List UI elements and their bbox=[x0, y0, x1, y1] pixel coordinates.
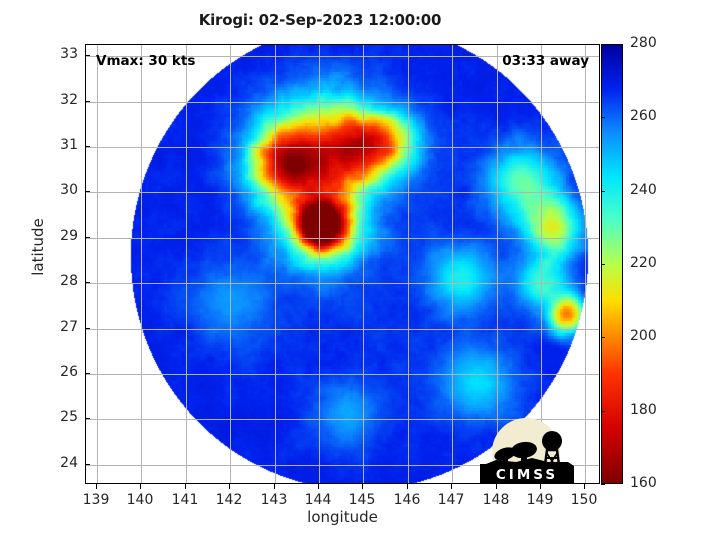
y-tick-label: 33 bbox=[38, 46, 78, 62]
y-tick-label: 24 bbox=[38, 455, 78, 471]
gridline-horizontal bbox=[86, 147, 599, 148]
gridline-vertical bbox=[141, 45, 142, 483]
colorbar-tick-mark bbox=[601, 191, 605, 192]
colorbar-gradient bbox=[602, 45, 622, 483]
gridline-horizontal bbox=[86, 102, 599, 103]
y-tick-mark bbox=[85, 282, 90, 283]
x-tick-label: 145 bbox=[340, 492, 384, 508]
x-tick-label: 140 bbox=[118, 492, 162, 508]
gridline-horizontal bbox=[86, 238, 599, 239]
gridline-vertical bbox=[275, 45, 276, 483]
time-away-annotation: 03:33 away bbox=[502, 53, 589, 69]
y-tick-mark bbox=[85, 101, 90, 102]
colorbar-tick-label: 200 bbox=[630, 328, 657, 344]
y-tick-mark bbox=[85, 55, 90, 56]
y-tick-mark bbox=[85, 418, 90, 419]
x-tick-label: 139 bbox=[74, 492, 118, 508]
y-tick-mark bbox=[85, 237, 90, 238]
page-title: Kirogi: 02-Sep-2023 12:00:00 bbox=[0, 11, 640, 29]
colorbar-tick-mark bbox=[601, 337, 605, 338]
x-tick-label: 142 bbox=[207, 492, 251, 508]
x-tick-label: 149 bbox=[518, 492, 562, 508]
vmax-annotation: Vmax: 30 kts bbox=[96, 53, 195, 69]
x-tick-mark bbox=[274, 484, 275, 489]
y-tick-label: 31 bbox=[38, 137, 78, 153]
y-tick-mark bbox=[85, 146, 90, 147]
y-tick-mark bbox=[85, 328, 90, 329]
x-tick-label: 144 bbox=[296, 492, 340, 508]
colorbar-tick-label: 280 bbox=[630, 35, 657, 51]
colorbar-tick-label: 260 bbox=[630, 108, 657, 124]
x-tick-mark bbox=[96, 484, 97, 489]
y-tick-label: 27 bbox=[38, 319, 78, 335]
x-axis-label: longitude bbox=[85, 508, 600, 526]
x-tick-mark bbox=[185, 484, 186, 489]
colorbar-tick-label: 160 bbox=[630, 475, 657, 491]
y-tick-label: 26 bbox=[38, 364, 78, 380]
y-tick-mark bbox=[85, 373, 90, 374]
gridline-vertical bbox=[363, 45, 364, 483]
gridline-vertical bbox=[585, 45, 586, 483]
y-tick-label: 25 bbox=[38, 409, 78, 425]
colorbar-tick-mark bbox=[601, 117, 605, 118]
gridline-horizontal bbox=[86, 283, 599, 284]
x-tick-mark bbox=[584, 484, 585, 489]
gridline-vertical bbox=[452, 45, 453, 483]
gridline-vertical bbox=[97, 45, 98, 483]
colorbar-tick-mark bbox=[601, 411, 605, 412]
x-tick-mark bbox=[451, 484, 452, 489]
gridline-horizontal bbox=[86, 329, 599, 330]
x-tick-mark bbox=[540, 484, 541, 489]
gridline-vertical bbox=[186, 45, 187, 483]
gridline-vertical bbox=[408, 45, 409, 483]
y-tick-label: 32 bbox=[38, 92, 78, 108]
x-tick-mark bbox=[362, 484, 363, 489]
figure: Kirogi: 02-Sep-2023 12:00:00 Vmax: 30 kt… bbox=[0, 0, 720, 540]
cimss-logo-text: CIMSS bbox=[496, 467, 558, 483]
gridline-horizontal bbox=[86, 374, 599, 375]
x-tick-label: 143 bbox=[252, 492, 296, 508]
x-tick-label: 141 bbox=[163, 492, 207, 508]
gridline-vertical bbox=[319, 45, 320, 483]
colorbar-tick-mark bbox=[601, 44, 605, 45]
cimss-logo: CIMSS bbox=[472, 406, 582, 484]
colorbar-tick-mark bbox=[601, 484, 605, 485]
colorbar-tick-mark bbox=[601, 264, 605, 265]
x-tick-label: 146 bbox=[385, 492, 429, 508]
x-tick-mark bbox=[496, 484, 497, 489]
x-tick-label: 150 bbox=[562, 492, 606, 508]
gridline-vertical bbox=[230, 45, 231, 483]
x-tick-mark bbox=[318, 484, 319, 489]
colorbar-tick-label: 240 bbox=[630, 182, 657, 198]
y-tick-mark bbox=[85, 191, 90, 192]
y-tick-mark bbox=[85, 464, 90, 465]
y-axis-label: latitude bbox=[29, 187, 47, 307]
x-tick-label: 148 bbox=[474, 492, 518, 508]
colorbar-tick-label: 180 bbox=[630, 402, 657, 418]
x-tick-mark bbox=[229, 484, 230, 489]
x-tick-mark bbox=[140, 484, 141, 489]
colorbar-tick-label: 220 bbox=[630, 255, 657, 271]
x-tick-label: 147 bbox=[429, 492, 473, 508]
x-tick-mark bbox=[407, 484, 408, 489]
gridline-horizontal bbox=[86, 192, 599, 193]
